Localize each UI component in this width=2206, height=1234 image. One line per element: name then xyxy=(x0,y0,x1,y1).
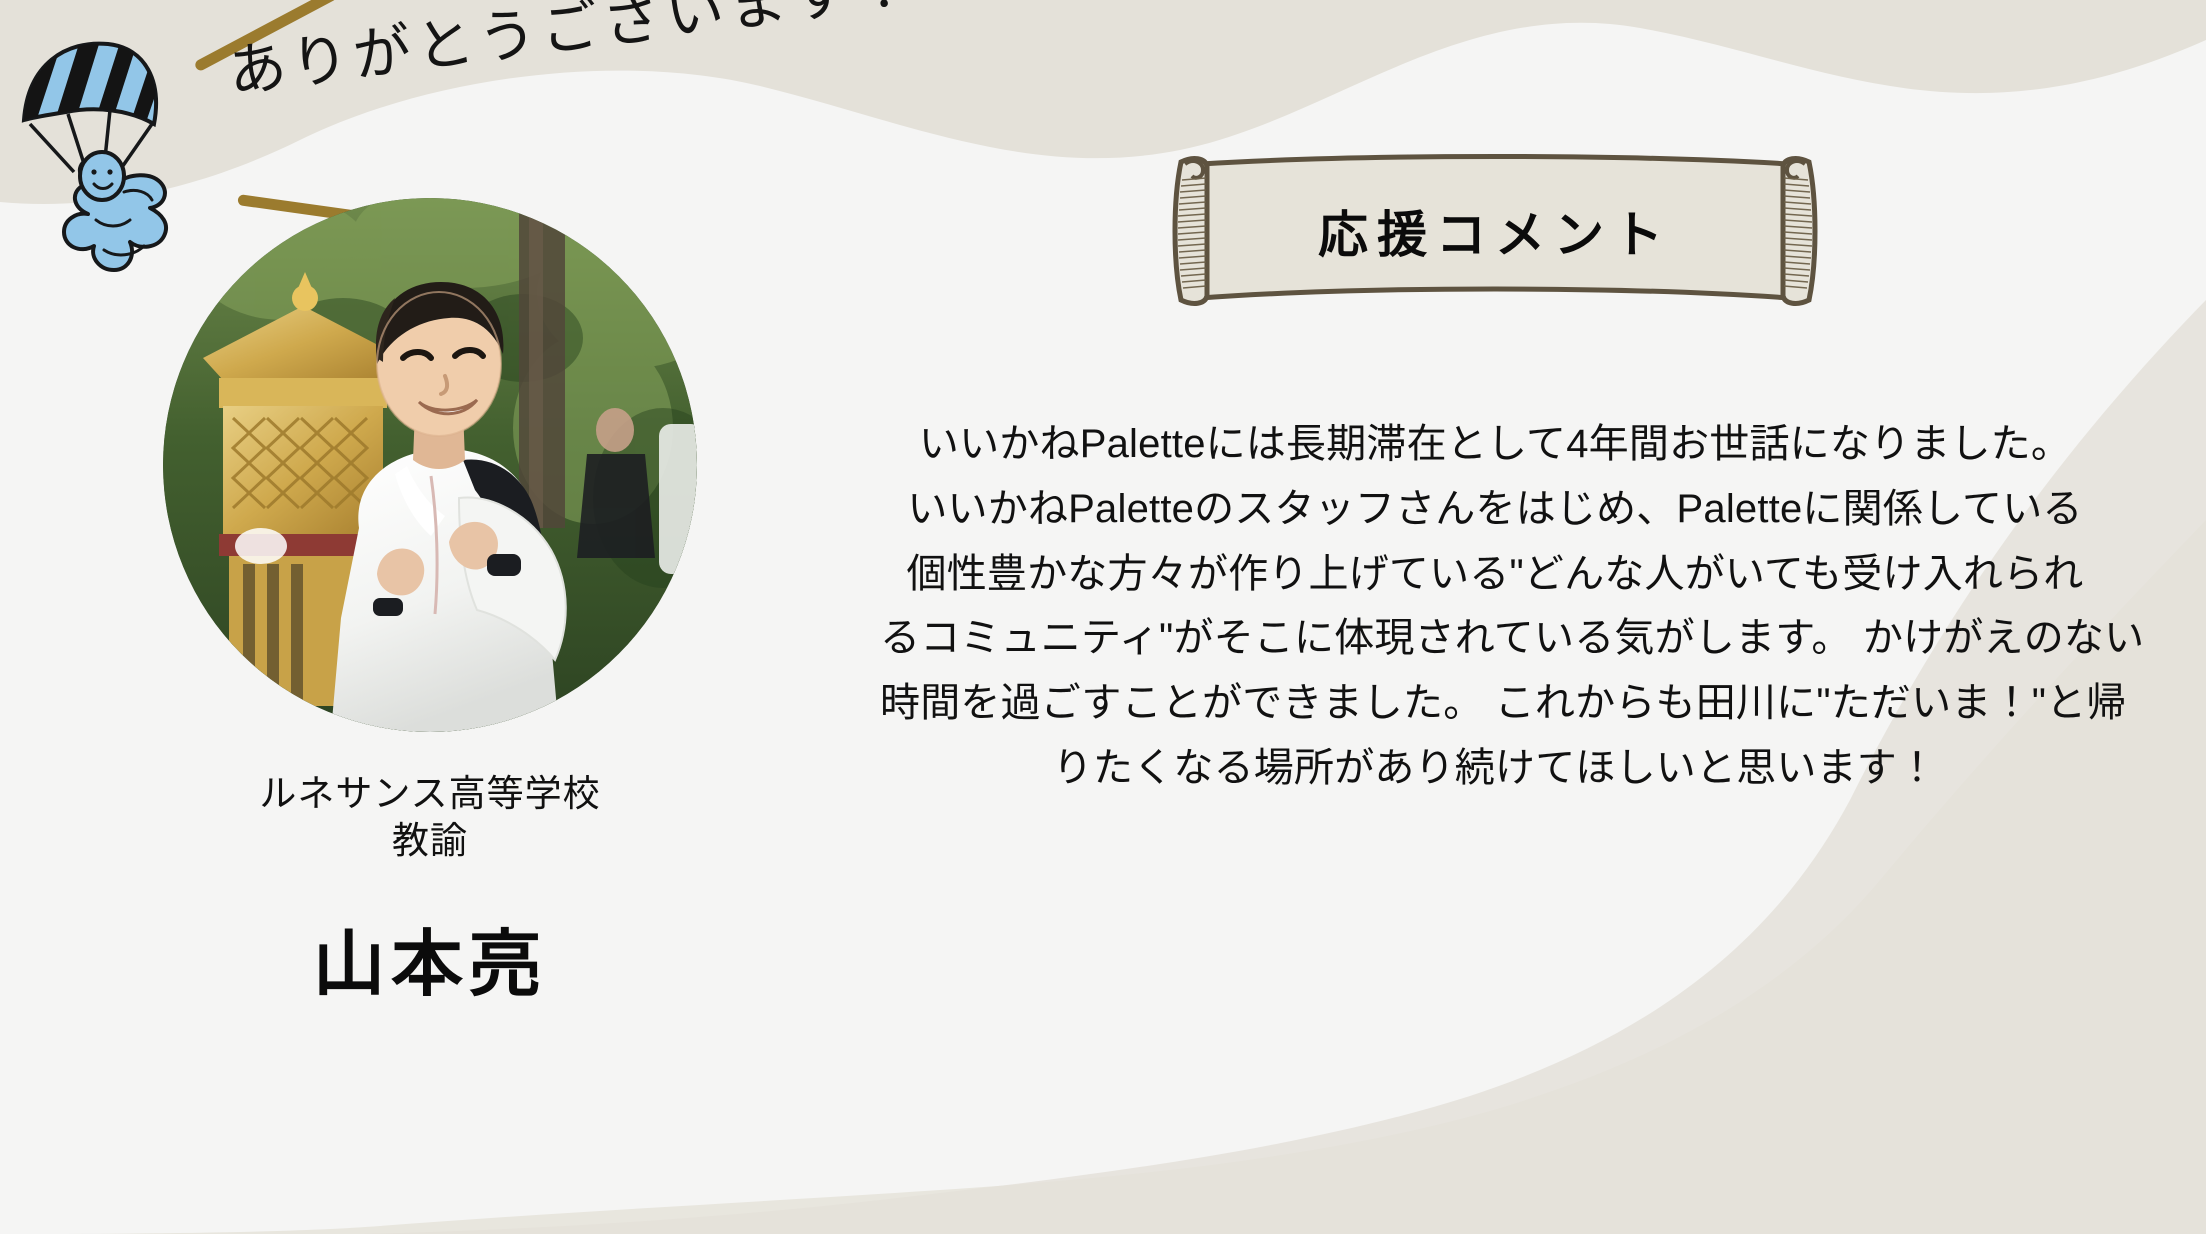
comment-column: 応援コメント いいかねPaletteには長期滞在として4年間お世話になりました。… xyxy=(880,150,2110,801)
affiliation-line-2: 教諭 xyxy=(150,817,710,864)
affiliation: ルネサンス高等学校 教諭 xyxy=(150,770,710,865)
affiliation-line-1: ルネサンス高等学校 xyxy=(150,770,710,817)
profile-photo xyxy=(163,198,697,732)
profile-block: ルネサンス高等学校 教諭 山本亮 xyxy=(150,198,710,1010)
comment-text: いいかねPaletteには長期滞在として4年間お世話になりました。 いいかねPa… xyxy=(880,412,2110,801)
comment-line: 時間を過ごすことができました。 これからも田川に"ただいま！"と帰 xyxy=(880,671,2110,736)
slide-canvas: ありがとうございます！ xyxy=(0,0,2206,1234)
comment-line: りたくなる場所があり続けてほしいと思います！ xyxy=(880,736,2110,801)
banner-title: 応援コメント xyxy=(1165,195,1825,267)
person-name: 山本亮 xyxy=(150,905,710,1010)
avatar xyxy=(163,198,697,732)
comment-line: 個性豊かな方々が作り上げている"どんな人がいても受け入れられ xyxy=(880,542,2110,607)
scroll-banner: 応援コメント xyxy=(1165,150,1825,312)
comment-line: るコミュニティ"がそこに体現されている気がします。 かけがえのない xyxy=(880,606,2110,671)
comment-line: いいかねPaletteには長期滞在として4年間お世話になりました。 xyxy=(880,412,2110,477)
comment-line: いいかねPaletteのスタッフさんをはじめ、Paletteに関係している xyxy=(880,477,2110,542)
